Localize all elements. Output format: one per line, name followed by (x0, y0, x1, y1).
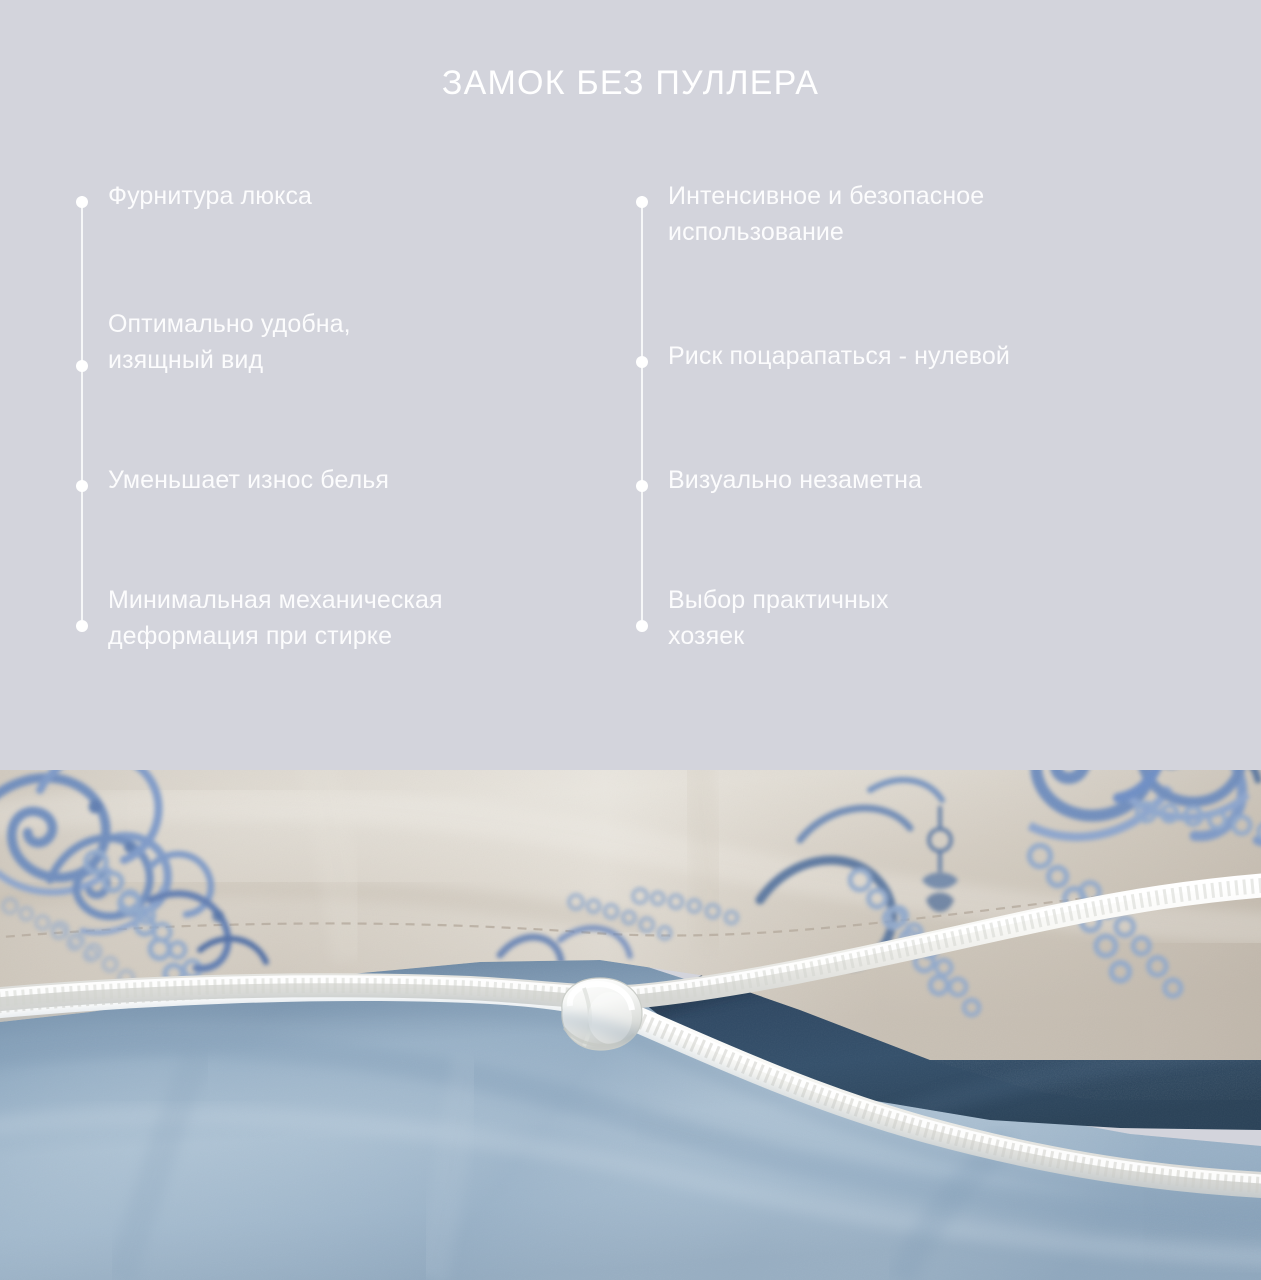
feature-label: Фурнитура люкса (108, 178, 312, 214)
feature-label: Минимальная механическая деформация при … (108, 582, 443, 654)
bullet-dot-icon (76, 480, 88, 492)
info-panel: ЗАМОК БЕЗ ПУЛЛЕРА Фурнитура люкса Оптима… (0, 0, 1261, 770)
bullet-dot-icon (636, 196, 648, 208)
feature-label: Риск поцарапаться - нулевой (668, 338, 1010, 374)
feature-label: Визуально незаметна (668, 462, 922, 498)
feature-label: Выбор практичных хозяек (668, 582, 889, 654)
features-column-right: Интенсивное и безопасное использование Р… (636, 178, 1206, 678)
bullet-dot-icon (76, 196, 88, 208)
timeline-rail-left (81, 196, 83, 620)
timeline-rail-right (641, 196, 643, 620)
features-columns: Фурнитура люкса Оптимально удобна, изящн… (0, 178, 1261, 678)
page-title: ЗАМОК БЕЗ ПУЛЛЕРА (0, 64, 1261, 103)
bullet-dot-icon (636, 480, 648, 492)
feature-label: Интенсивное и безопасное использование (668, 178, 984, 250)
promo-banner: ЗАМОК БЕЗ ПУЛЛЕРА Фурнитура люкса Оптима… (0, 0, 1261, 1280)
features-column-left: Фурнитура люкса Оптимально удобна, изящн… (76, 178, 636, 678)
bullet-dot-icon (76, 360, 88, 372)
feature-label: Уменьшает износ белья (108, 462, 389, 498)
bullet-dot-icon (76, 620, 88, 632)
bullet-dot-icon (636, 356, 648, 368)
bullet-dot-icon (636, 620, 648, 632)
feature-label: Оптимально удобна, изящный вид (108, 306, 351, 378)
